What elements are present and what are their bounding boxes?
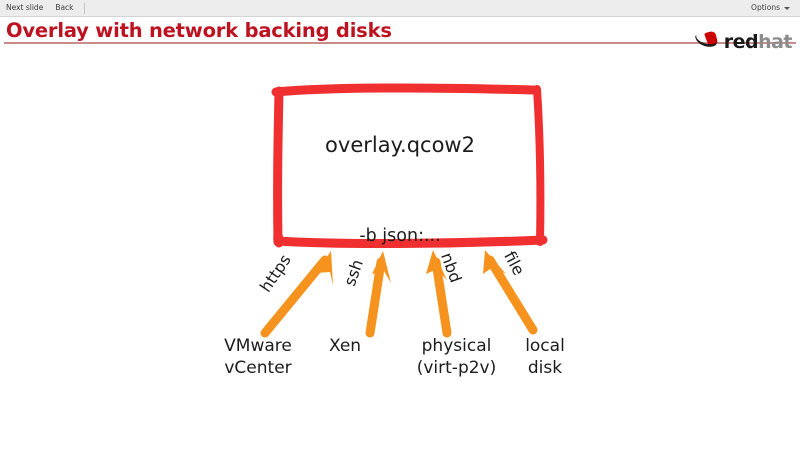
overlay-diagram	[0, 45, 800, 450]
chevron-down-icon	[784, 7, 790, 10]
source-label-physical-line2: (virt-p2v)	[394, 357, 519, 379]
options-menu-button[interactable]: Options	[745, 0, 800, 16]
source-label-local-line1: local	[505, 335, 585, 357]
source-arrows	[265, 250, 533, 333]
options-label: Options	[751, 0, 780, 16]
next-slide-button[interactable]: Next slide	[0, 0, 49, 16]
toolbar-divider	[84, 3, 85, 14]
source-label-xen: Xen	[305, 335, 385, 357]
source-label-xen-line1: Xen	[305, 335, 385, 357]
presenter-toolbar: Next slide Back Options	[0, 0, 800, 17]
backing-option-label: -b json:...	[0, 226, 800, 246]
source-label-vmware: VMware vCenter	[198, 335, 318, 379]
overlay-box-outline	[276, 88, 543, 244]
back-button[interactable]: Back	[49, 0, 79, 16]
overlay-filename-label: overlay.qcow2	[0, 133, 800, 157]
source-label-physical-line1: physical	[394, 335, 519, 357]
slide-header: Overlay with network backing disks redha…	[0, 17, 800, 45]
source-label-vmware-line2: vCenter	[198, 357, 318, 379]
source-label-local-line2: disk	[505, 357, 585, 379]
source-label-local: local disk	[505, 335, 585, 379]
page-title: Overlay with network backing disks	[6, 19, 392, 42]
source-label-physical: physical (virt-p2v)	[394, 335, 519, 379]
arrow-ssh	[370, 251, 391, 333]
title-underline-rule	[4, 42, 796, 44]
slide-canvas: overlay.qcow2 -b json:... https ssh nbd …	[0, 45, 800, 450]
source-label-vmware-line1: VMware	[198, 335, 318, 357]
